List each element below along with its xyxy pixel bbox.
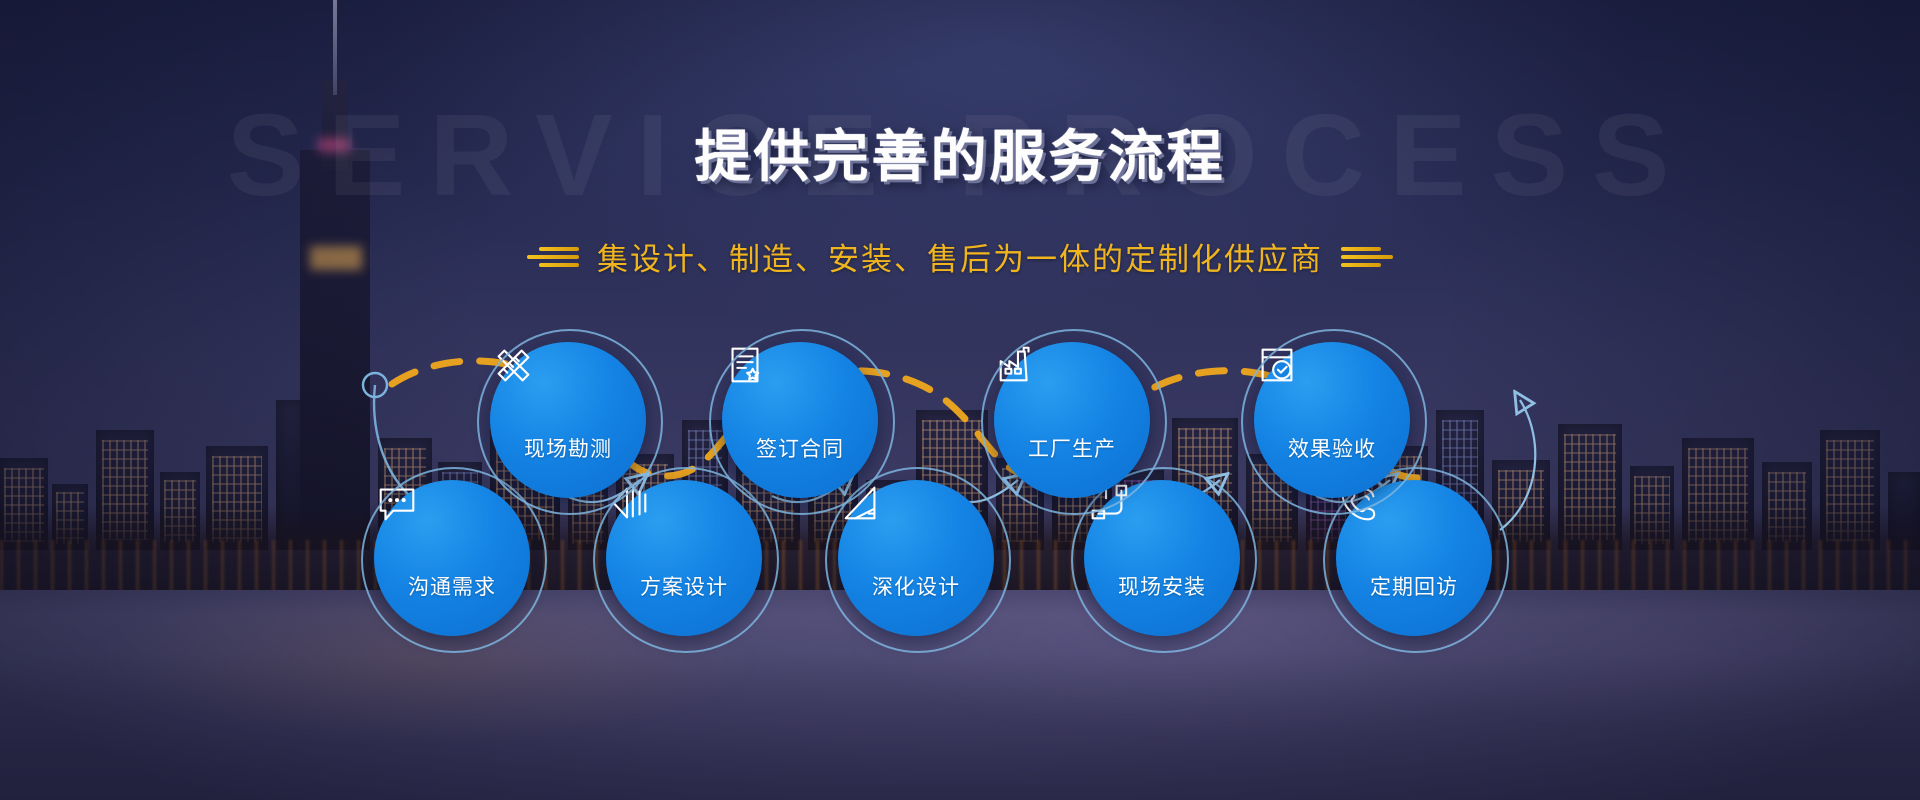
flow-step-8[interactable]: 效果验收 [1254, 342, 1410, 498]
set-square-icon [893, 516, 939, 562]
subtitle-row: 集设计、制造、安装、售后为一体的定制化供应商 [0, 234, 1920, 279]
page-subtitle: 集设计、制造、安装、售后为一体的定制化供应商 [597, 234, 1323, 279]
flow-step-3[interactable]: 方案设计 [606, 480, 762, 636]
ruler-pencil-icon [545, 378, 591, 424]
flow-step-5[interactable]: 深化设计 [838, 480, 994, 636]
flow-step-4-label: 签订合同 [756, 433, 844, 463]
subtitle-deco-left-icon [527, 247, 579, 267]
factory-icon [1049, 378, 1095, 424]
flow-step-9[interactable]: 定期回访 [1336, 480, 1492, 636]
page-title: 提供完善的服务流程 [0, 112, 1920, 193]
flow-step-7[interactable]: 现场安装 [1084, 480, 1240, 636]
banner-stage: SERVICE PROCESS 提供完善的服务流程 集设计、制造、安装、售后为一… [0, 0, 1920, 800]
layers-design-icon [661, 516, 707, 562]
flow-step-5-label: 深化设计 [872, 571, 960, 601]
contract-seal-icon [777, 378, 823, 424]
subtitle-deco-right-icon [1341, 247, 1393, 267]
flow-step-9-label: 定期回访 [1370, 571, 1458, 601]
phone-call-icon [1391, 516, 1437, 562]
flow-step-8-label: 效果验收 [1288, 433, 1376, 463]
flow-step-3-label: 方案设计 [640, 571, 728, 601]
flow-step-4[interactable]: 签订合同 [722, 342, 878, 498]
flow-step-6-label: 工厂生产 [1028, 433, 1116, 463]
service-process-flow: 沟通需求 方案设计 深化设计 [0, 300, 1920, 630]
flow-step-2[interactable]: 现场勘测 [490, 342, 646, 498]
flow-step-1-label: 沟通需求 [408, 571, 496, 601]
flow-step-1[interactable]: 沟通需求 [374, 480, 530, 636]
flow-step-2-label: 现场勘测 [524, 433, 612, 463]
checked-doc-icon [1309, 378, 1355, 424]
flow-step-6[interactable]: 工厂生产 [994, 342, 1150, 498]
install-tool-icon [1139, 516, 1185, 562]
flow-step-7-label: 现场安装 [1118, 571, 1206, 601]
chat-bubble-icon [429, 516, 475, 562]
